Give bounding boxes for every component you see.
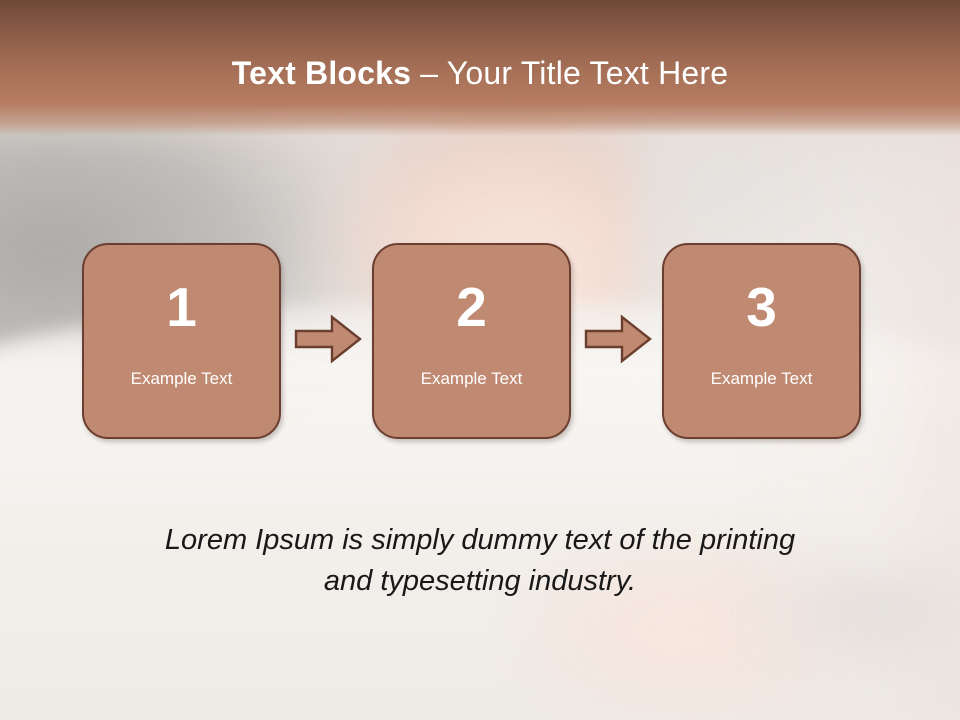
step-sequence: 1 Example Text 2 Example Text 3 Example … — [0, 0, 960, 720]
caption-line-1: Lorem Ipsum is simply dummy text of the … — [80, 520, 880, 561]
step-box-2[interactable]: 2 Example Text — [372, 243, 571, 439]
caption-text: Lorem Ipsum is simply dummy text of the … — [80, 520, 880, 602]
step-number-3: 3 — [664, 277, 859, 337]
step-label-1: Example Text — [84, 368, 279, 390]
step-box-3[interactable]: 3 Example Text — [662, 243, 861, 439]
slide-canvas: Text Blocks – Your Title Text Here 1 Exa… — [0, 0, 960, 720]
step-number-1: 1 — [84, 277, 279, 337]
arrow-right-icon — [294, 314, 362, 364]
caption-line-2: and typesetting industry. — [80, 561, 880, 602]
step-number-2: 2 — [374, 277, 569, 337]
step-box-1[interactable]: 1 Example Text — [82, 243, 281, 439]
arrow-right-icon — [584, 314, 652, 364]
step-label-3: Example Text — [664, 368, 859, 390]
step-label-2: Example Text — [374, 368, 569, 390]
